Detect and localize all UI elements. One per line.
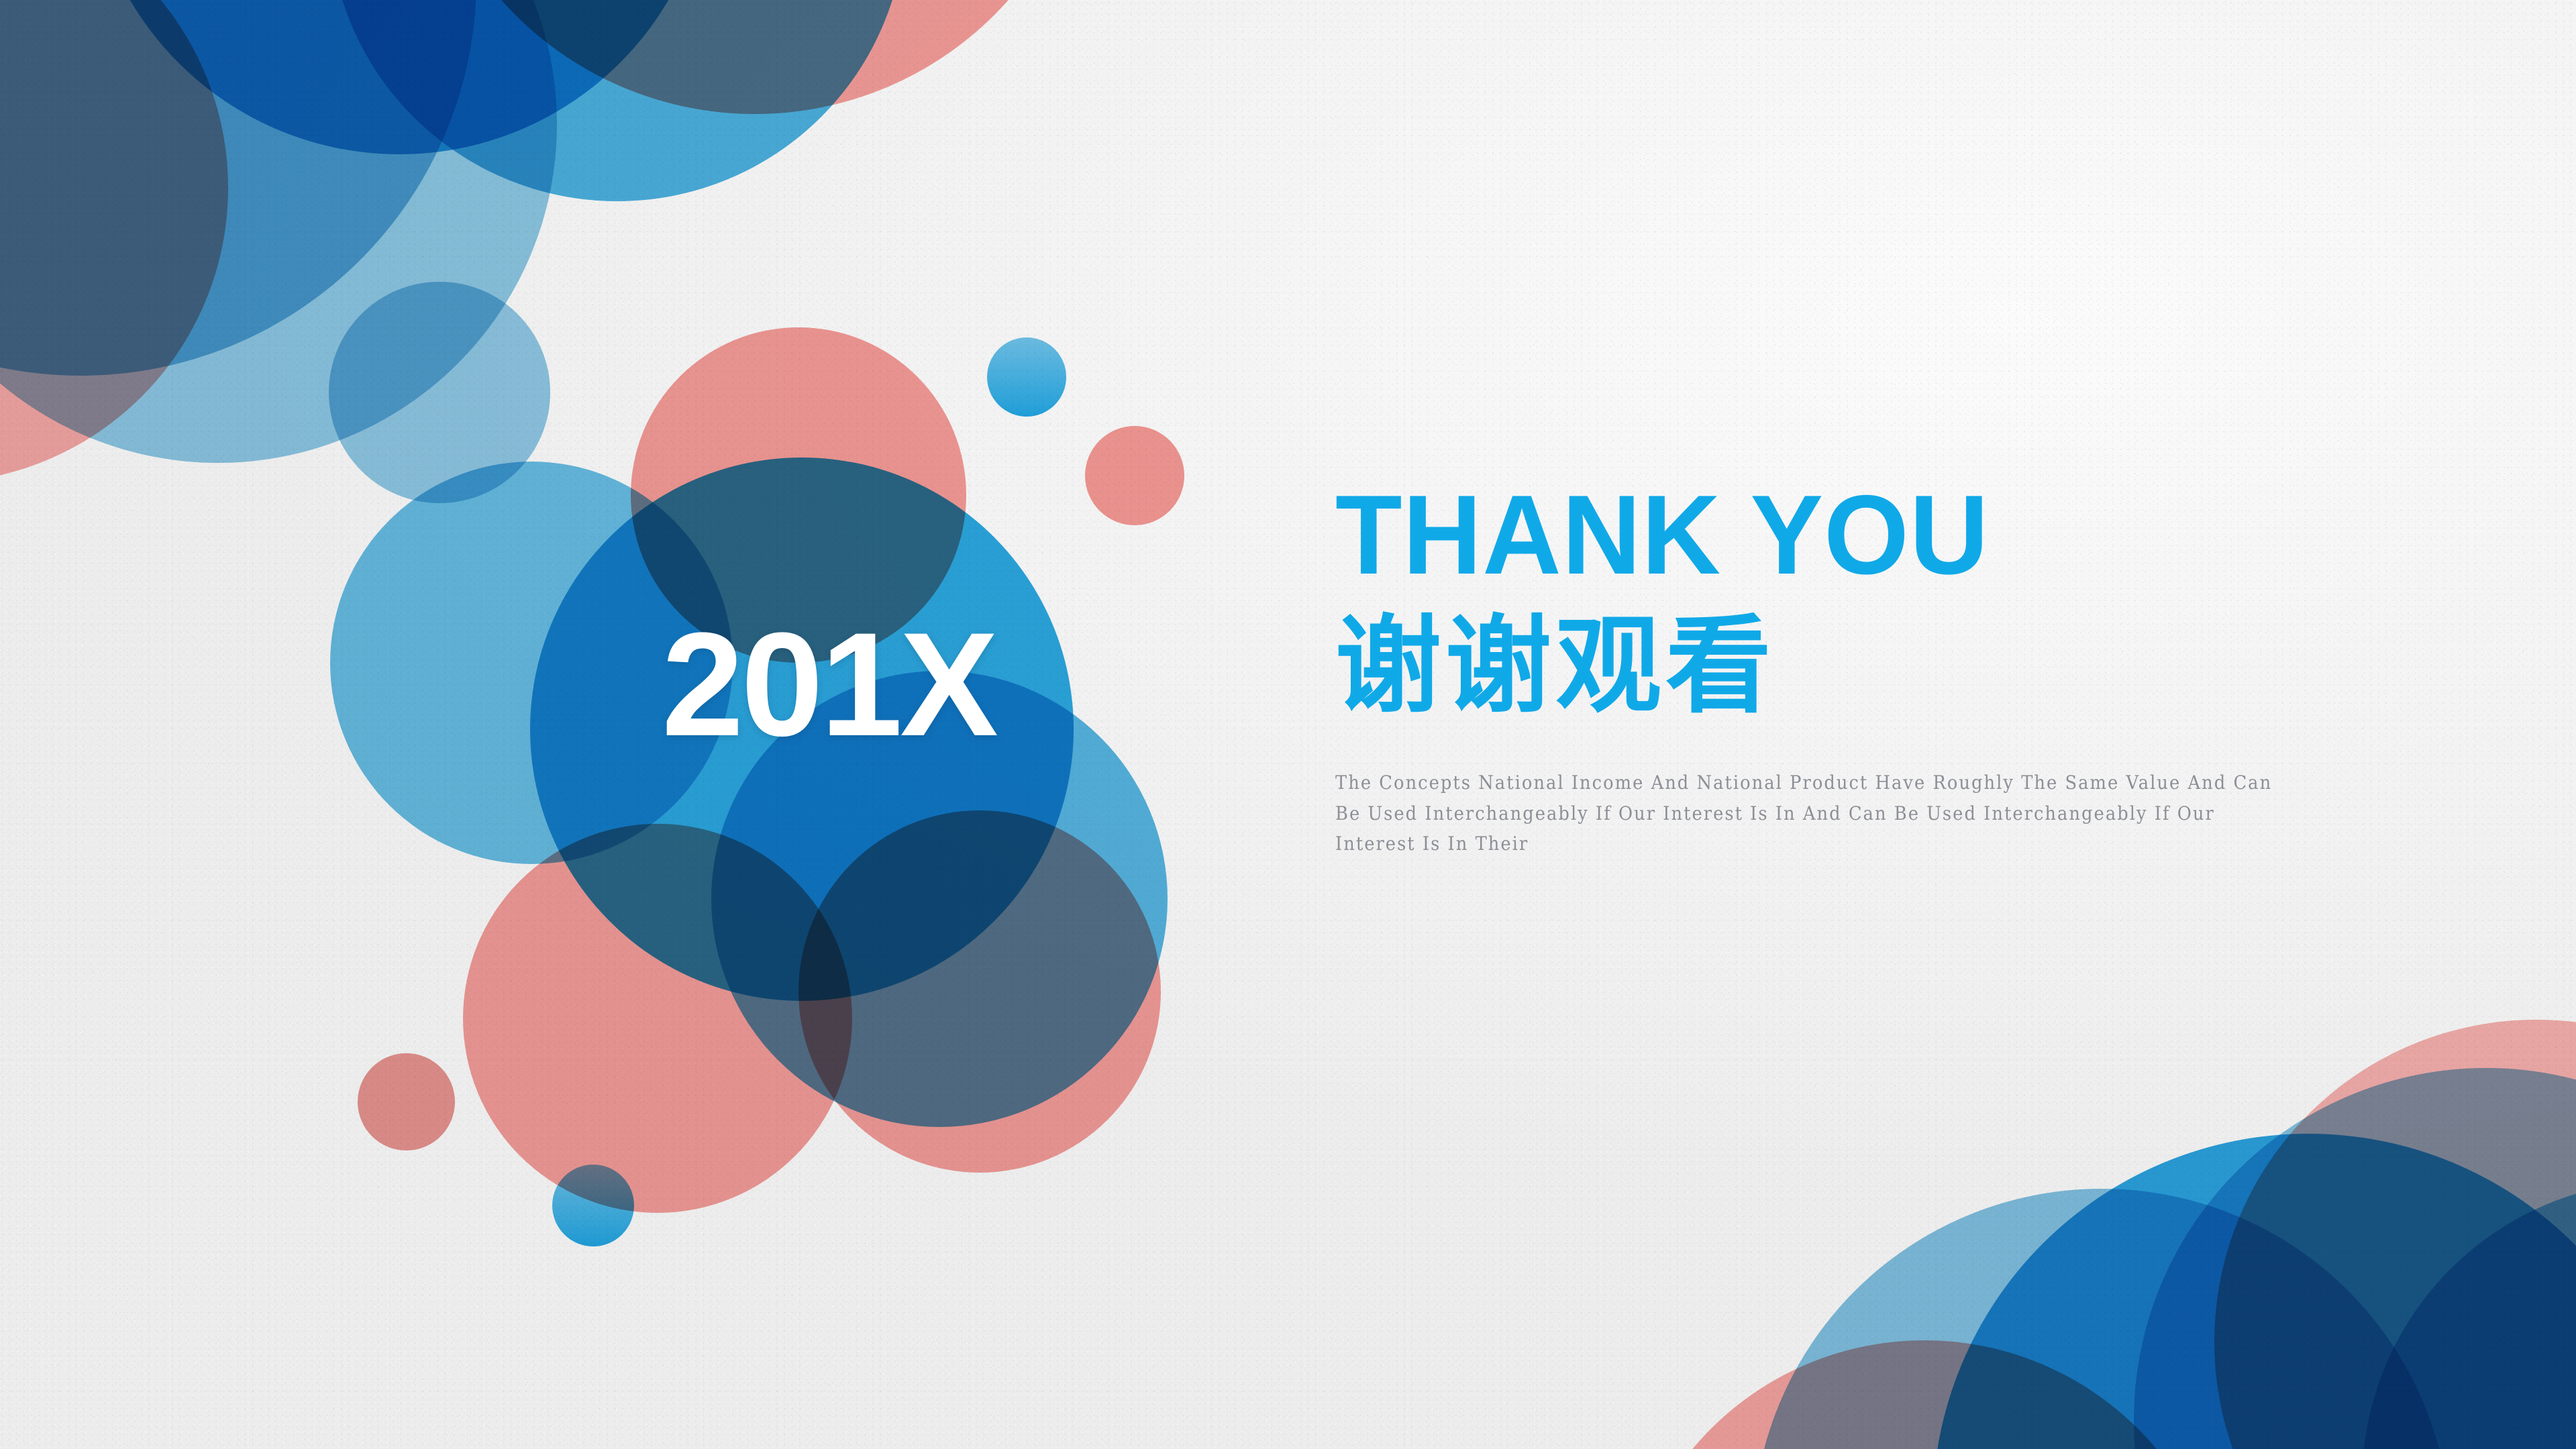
presentation-slide: 201X THANK YOU 谢谢观看 The Concepts Nationa… [0,0,2576,1449]
slide-text-block: THANK YOU 谢谢观看 The Concepts National Inc… [1335,478,2436,859]
headline-chinese: 谢谢观看 [1335,607,2436,726]
body-paragraph: The Concepts National Income And Nationa… [1335,767,2298,859]
headline-english: THANK YOU [1335,478,2403,592]
